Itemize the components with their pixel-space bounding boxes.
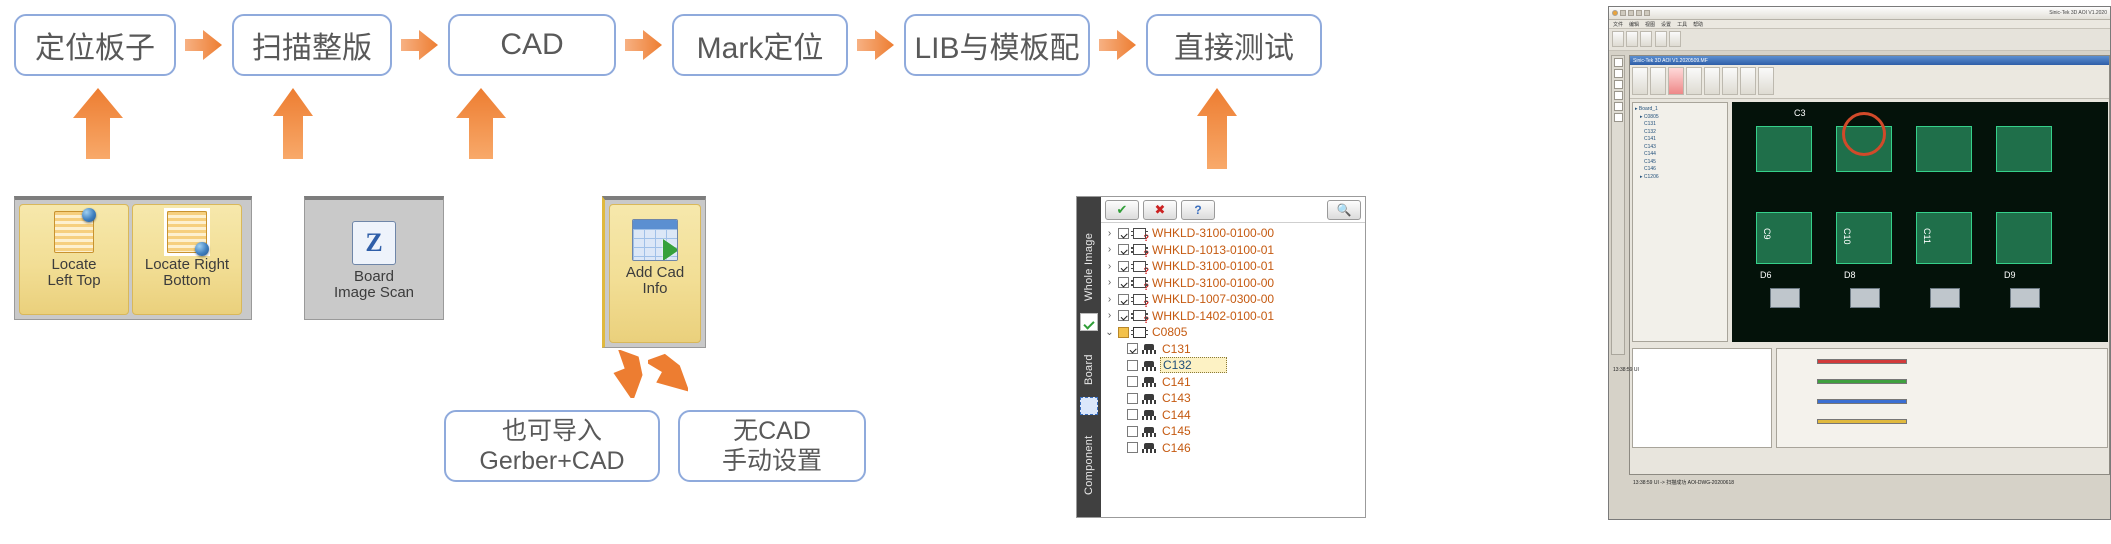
inner-tree-row[interactable]: C144 bbox=[1635, 151, 1725, 159]
inner-tree-row[interactable]: C146 bbox=[1635, 166, 1725, 174]
row-checkbox[interactable] bbox=[1118, 327, 1129, 338]
pcb-pad bbox=[1756, 126, 1812, 172]
ribbon-button[interactable] bbox=[1758, 67, 1774, 95]
locate-left-top-label: Locate Left Top bbox=[47, 257, 100, 289]
tree-row-label: WHKLD-1402-0100-01 bbox=[1150, 309, 1276, 323]
tree-row-part-selected[interactable]: C132 bbox=[1101, 357, 1365, 374]
inner-tree-row[interactable]: C143 bbox=[1635, 144, 1725, 152]
slide-canvas: 定位板子 扫描整版 CAD Mark定位 LIB与模板配 直 bbox=[0, 0, 2111, 544]
process-flow: 定位板子 扫描整版 CAD Mark定位 LIB与模板配 直 bbox=[14, 14, 1322, 76]
tree-row-label: C132 bbox=[1160, 357, 1227, 373]
pcb-image-canvas[interactable]: C3 C9 C10 C11 D6 D8 D9 bbox=[1732, 102, 2108, 342]
open-icon[interactable] bbox=[1628, 10, 1634, 16]
expand-icon[interactable]: › bbox=[1105, 244, 1114, 255]
locate-right-bottom-label: Locate Right Bottom bbox=[145, 257, 229, 289]
tree-row-part[interactable]: C146 bbox=[1101, 440, 1365, 457]
package-icon: ? bbox=[1133, 261, 1146, 272]
tree-row-label: C0805 bbox=[1150, 325, 1189, 339]
titlebar-icons bbox=[1612, 10, 1650, 16]
capacitor-icon bbox=[1142, 360, 1156, 371]
pcb-ref-label: D6 bbox=[1760, 270, 1772, 280]
package-icon: ? bbox=[1133, 310, 1146, 321]
row-checkbox[interactable] bbox=[1118, 244, 1129, 255]
board-scatter-icon[interactable] bbox=[1080, 313, 1098, 331]
ribbon-button[interactable] bbox=[1612, 31, 1624, 47]
flow-step-5-label: LIB与模板配 bbox=[914, 23, 1079, 67]
up-arrow-locate bbox=[72, 88, 124, 160]
board-scan-icon: Z bbox=[352, 221, 396, 265]
row-checkbox[interactable] bbox=[1127, 393, 1138, 404]
magnifier-icon: 🔍 bbox=[1337, 203, 1352, 217]
package-icon: ? bbox=[1133, 277, 1146, 288]
tab-component-label: Component bbox=[1083, 435, 1095, 495]
tree-row-label: C141 bbox=[1160, 375, 1193, 389]
expand-icon[interactable]: › bbox=[1105, 277, 1114, 288]
flow-step-6[interactable]: 直接测试 bbox=[1146, 14, 1322, 76]
pcb-component bbox=[1930, 288, 1960, 308]
ribbon-button[interactable] bbox=[1650, 67, 1666, 95]
ribbon-button[interactable] bbox=[1655, 31, 1667, 47]
inner-tree-row[interactable]: ▸ C0805 bbox=[1635, 114, 1725, 122]
tree-row-part[interactable]: C144 bbox=[1101, 407, 1365, 424]
menu-file[interactable]: 文件 bbox=[1613, 21, 1623, 28]
result-bar bbox=[1817, 419, 1907, 424]
board-image-scan-label: Board Image Scan bbox=[334, 269, 414, 301]
flow-step-4-label: Mark定位 bbox=[697, 23, 824, 67]
capacitor-icon bbox=[1142, 442, 1156, 453]
tree-row[interactable]: › ? WHKLD-1007-0300-00 bbox=[1101, 291, 1365, 308]
note-pin-top-icon bbox=[54, 211, 94, 253]
tree-row[interactable]: › ? WHKLD-3100-0100-00 bbox=[1101, 225, 1365, 242]
package-icon: ? bbox=[1133, 228, 1146, 239]
app-inner-titlebar: Sinic-Tek 3D AOI V1.2020509.MF bbox=[1630, 56, 2109, 65]
inner-tree-rows: ▸ Board_1 ▸ C0805 C131 C132 C141 C143 C1… bbox=[1633, 103, 1727, 184]
tool-icon[interactable] bbox=[1614, 102, 1623, 111]
ribbon-button[interactable] bbox=[1722, 67, 1738, 95]
tree-row-label: C145 bbox=[1160, 424, 1193, 438]
pcb-highlight-ring bbox=[1842, 112, 1886, 156]
flow-step-3-label: CAD bbox=[500, 28, 563, 62]
result-grid-panel[interactable] bbox=[1632, 348, 1772, 448]
row-checkbox[interactable] bbox=[1118, 277, 1129, 288]
note-pin-bottom-icon bbox=[167, 211, 207, 253]
branch-arrow-left bbox=[608, 350, 648, 398]
capacitor-icon bbox=[1142, 409, 1156, 420]
menu-help[interactable]: 帮助 bbox=[1693, 21, 1703, 28]
pcb-ref-label: C9 bbox=[1762, 228, 1772, 240]
ribbon-button[interactable] bbox=[1704, 67, 1720, 95]
inner-tree-row[interactable]: ▸ C1206 bbox=[1635, 174, 1725, 182]
tree-row-label: WHKLD-3100-0100-00 bbox=[1150, 276, 1276, 290]
up-arrow-tree bbox=[1196, 88, 1238, 170]
inner-tree-row[interactable]: C145 bbox=[1635, 159, 1725, 167]
app-outer-menubar: 文件 编辑 视图 设置 工具 帮助 bbox=[1609, 20, 2110, 29]
up-arrow-scan bbox=[272, 88, 314, 160]
tree-row-label: WHKLD-3100-0100-00 bbox=[1150, 226, 1276, 240]
tree-row-label: C146 bbox=[1160, 441, 1193, 455]
row-checkbox[interactable] bbox=[1127, 343, 1138, 354]
flow-arrow-4 bbox=[857, 28, 895, 62]
ribbon-button[interactable] bbox=[1668, 67, 1684, 95]
save-icon[interactable] bbox=[1620, 10, 1626, 16]
menu-view[interactable]: 视图 bbox=[1645, 21, 1655, 28]
pcb-component bbox=[1770, 288, 1800, 308]
ribbon-button[interactable] bbox=[1740, 67, 1756, 95]
tree-row-part[interactable]: C131 bbox=[1101, 341, 1365, 358]
row-checkbox[interactable] bbox=[1118, 261, 1129, 272]
flow-step-5[interactable]: LIB与模板配 bbox=[904, 14, 1090, 76]
flow-arrow-1 bbox=[185, 28, 223, 62]
row-checkbox[interactable] bbox=[1127, 409, 1138, 420]
tool-icon[interactable] bbox=[1614, 80, 1623, 89]
board-image-scan-button[interactable]: Z Board Image Scan bbox=[309, 204, 439, 315]
ribbon-group bbox=[1655, 31, 1681, 48]
pcb-ref-label: D8 bbox=[1844, 270, 1856, 280]
add-cad-info-button[interactable]: Add Cad Info bbox=[609, 204, 701, 343]
menu-tools[interactable]: 工具 bbox=[1677, 21, 1687, 28]
locate-right-bottom-button[interactable]: Locate Right Bottom bbox=[132, 204, 242, 315]
inner-ribbon bbox=[1630, 65, 2109, 99]
ribbon-button[interactable] bbox=[1632, 67, 1648, 95]
result-bar bbox=[1817, 399, 1907, 404]
package-icon: ? bbox=[1133, 244, 1146, 255]
ribbon-button[interactable] bbox=[1669, 31, 1681, 47]
row-checkbox[interactable] bbox=[1127, 376, 1138, 387]
reject-button[interactable]: ✖ bbox=[1143, 200, 1177, 220]
expand-icon[interactable]: › bbox=[1105, 310, 1114, 321]
pcb-ref-label: C3 bbox=[1794, 108, 1806, 118]
tree-row-label: C144 bbox=[1160, 408, 1193, 422]
result-bars-panel[interactable] bbox=[1776, 348, 2108, 448]
ribbon-button[interactable] bbox=[1686, 67, 1702, 95]
note-box-gerber-label: 也可导入 Gerber+CAD bbox=[479, 416, 624, 477]
note-box-nocad[interactable]: 无CAD 手动设置 bbox=[678, 410, 866, 482]
tool-icon[interactable] bbox=[1614, 69, 1623, 78]
row-checkbox[interactable] bbox=[1118, 310, 1129, 321]
branch-arrow-right bbox=[648, 350, 688, 398]
flow-step-3[interactable]: CAD bbox=[448, 14, 616, 76]
menu-edit[interactable]: 编辑 bbox=[1629, 21, 1639, 28]
green-check-icon: ✔ bbox=[1117, 202, 1128, 218]
app-logo-icon bbox=[1612, 10, 1618, 16]
tool-icon[interactable] bbox=[1614, 58, 1623, 67]
ribbon-group bbox=[1612, 31, 1652, 48]
inner-tree-row[interactable]: C141 bbox=[1635, 136, 1725, 144]
ribbon-button[interactable] bbox=[1626, 31, 1638, 47]
pcb-pad bbox=[1996, 212, 2052, 264]
tree-row-label: WHKLD-3100-0100-01 bbox=[1150, 259, 1276, 273]
app-inner-window: Sinic-Tek 3D AOI V1.2020509.MF ▸ Board_1… bbox=[1629, 55, 2110, 475]
tree-row-label: C143 bbox=[1160, 391, 1193, 405]
tab-board-label: Board bbox=[1083, 354, 1095, 385]
aoi-application-screenshot: Sinic-Tek 3D AOI V1.2020 文件 编辑 视图 设置 工具 … bbox=[1608, 6, 2111, 520]
add-cad-icon bbox=[632, 219, 678, 261]
flow-arrow-2 bbox=[401, 28, 439, 62]
tree-row[interactable]: › ? WHKLD-3100-0100-01 bbox=[1101, 258, 1365, 275]
tool-icon[interactable] bbox=[1614, 91, 1623, 100]
flow-step-2-label: 扫描整版 bbox=[252, 23, 372, 67]
question-mark-icon: ? bbox=[1194, 203, 1201, 217]
tab-whole-image[interactable]: Whole Image bbox=[1080, 201, 1098, 307]
app-outer-titlebar: Sinic-Tek 3D AOI V1.2020 bbox=[1609, 7, 2110, 20]
row-checkbox[interactable] bbox=[1118, 294, 1129, 305]
row-checkbox[interactable] bbox=[1118, 228, 1129, 239]
pcb-component bbox=[2010, 288, 2040, 308]
flow-step-2[interactable]: 扫描整版 bbox=[232, 14, 392, 76]
ribbon-button[interactable] bbox=[1640, 31, 1652, 47]
inner-tree-row[interactable]: ▸ Board_1 bbox=[1635, 106, 1725, 114]
menu-settings[interactable]: 设置 bbox=[1661, 21, 1671, 28]
inner-tree-panel[interactable]: ▸ Board_1 ▸ C0805 C131 C132 C141 C143 C1… bbox=[1632, 102, 1728, 342]
pcb-ref-label: C10 bbox=[1842, 228, 1852, 245]
inner-tree-row[interactable]: C132 bbox=[1635, 129, 1725, 137]
pcb-component bbox=[1850, 288, 1880, 308]
package-icon: ? bbox=[1133, 294, 1146, 305]
locate-toolbar-panel: Locate Left Top Locate Right Bottom bbox=[14, 196, 252, 320]
tree-row[interactable]: › ? WHKLD-1013-0100-01 bbox=[1101, 242, 1365, 259]
note-box-gerber[interactable]: 也可导入 Gerber+CAD bbox=[444, 410, 660, 482]
flow-step-6-label: 直接测试 bbox=[1174, 23, 1294, 67]
row-checkbox[interactable] bbox=[1127, 442, 1138, 453]
print-icon[interactable] bbox=[1636, 10, 1642, 16]
scan-toolbar-panel: Z Board Image Scan bbox=[304, 196, 444, 320]
flow-arrow-3 bbox=[625, 28, 663, 62]
tree-row-label: WHKLD-1013-0100-01 bbox=[1150, 243, 1276, 257]
tab-component[interactable]: Component bbox=[1080, 417, 1098, 501]
help-button[interactable]: ? bbox=[1181, 200, 1215, 220]
component-tree-panel: Whole Image Board Component ✔ ✖ ? bbox=[1076, 196, 1366, 518]
row-checkbox[interactable] bbox=[1127, 426, 1138, 437]
pcb-pad bbox=[1916, 126, 1972, 172]
tree-list[interactable]: › ? WHKLD-3100-0100-00 › ? WHKLD-1013-01… bbox=[1101, 223, 1365, 517]
tree-row-label: C131 bbox=[1160, 342, 1193, 356]
tree-row-label: WHKLD-1007-0300-00 bbox=[1150, 292, 1276, 306]
component-select-icon[interactable] bbox=[1080, 397, 1098, 415]
tree-row[interactable]: › ? WHKLD-3100-0100-00 bbox=[1101, 275, 1365, 292]
inner-tree-row[interactable]: C131 bbox=[1635, 121, 1725, 129]
tree-row-group[interactable]: ⌄ C0805 bbox=[1101, 324, 1365, 341]
cad-toolbar-panel: Add Cad Info bbox=[602, 196, 706, 348]
app-status-left: 13:38:59 UI bbox=[1613, 367, 1639, 373]
tree-toolbar: ✔ ✖ ? 🔍 bbox=[1101, 197, 1365, 223]
tree-row[interactable]: › ? WHKLD-1402-0100-01 bbox=[1101, 308, 1365, 325]
undo-icon[interactable] bbox=[1644, 10, 1650, 16]
capacitor-icon bbox=[1142, 426, 1156, 437]
flow-arrow-5 bbox=[1099, 28, 1137, 62]
app-inner-title: Sinic-Tek 3D AOI V1.2020509.MF bbox=[1633, 58, 1708, 64]
up-arrow-cad bbox=[455, 88, 507, 160]
red-x-icon: ✖ bbox=[1155, 202, 1166, 218]
expand-icon[interactable]: › bbox=[1105, 228, 1114, 239]
flow-step-4[interactable]: Mark定位 bbox=[672, 14, 848, 76]
accept-button[interactable]: ✔ bbox=[1105, 200, 1139, 220]
tree-body: ✔ ✖ ? 🔍 › ? WHKLD-3100-0100-00 bbox=[1101, 197, 1365, 517]
tree-row-part[interactable]: C143 bbox=[1101, 390, 1365, 407]
pcb-pad bbox=[1996, 126, 2052, 172]
flow-step-1-label: 定位板子 bbox=[35, 23, 155, 67]
tree-vertical-tabs: Whole Image Board Component bbox=[1077, 197, 1101, 517]
row-checkbox[interactable] bbox=[1127, 360, 1138, 371]
pcb-ref-label: D9 bbox=[2004, 270, 2016, 280]
expand-icon[interactable]: › bbox=[1105, 294, 1114, 305]
app-left-toolstrip bbox=[1611, 55, 1625, 355]
result-bar bbox=[1817, 379, 1907, 384]
tab-whole-image-label: Whole Image bbox=[1083, 233, 1095, 301]
zoom-button[interactable]: 🔍 bbox=[1327, 200, 1361, 220]
locate-left-top-button[interactable]: Locate Left Top bbox=[19, 204, 129, 315]
pcb-ref-label: C11 bbox=[1922, 228, 1932, 244]
tree-row-part[interactable]: C141 bbox=[1101, 374, 1365, 391]
app-outer-title: Sinic-Tek 3D AOI V1.2020 bbox=[2049, 10, 2107, 16]
capacitor-icon bbox=[1142, 376, 1156, 387]
app-status-message: 13:38:59 UI -> 扫描成功 AOI-DWG-20200618 bbox=[1633, 479, 1734, 486]
add-cad-info-label: Add Cad Info bbox=[626, 265, 684, 297]
tab-board[interactable]: Board bbox=[1080, 333, 1098, 391]
tool-icon[interactable] bbox=[1614, 113, 1623, 122]
note-box-nocad-label: 无CAD 手动设置 bbox=[722, 416, 822, 477]
capacitor-icon bbox=[1142, 343, 1156, 354]
expand-icon[interactable]: › bbox=[1105, 261, 1114, 272]
collapse-icon[interactable]: ⌄ bbox=[1105, 327, 1114, 338]
flow-step-1[interactable]: 定位板子 bbox=[14, 14, 176, 76]
package-icon bbox=[1133, 327, 1146, 338]
app-outer-ribbon bbox=[1609, 29, 2110, 51]
capacitor-icon bbox=[1142, 393, 1156, 404]
tree-row-part[interactable]: C145 bbox=[1101, 423, 1365, 440]
result-bar bbox=[1817, 359, 1907, 364]
